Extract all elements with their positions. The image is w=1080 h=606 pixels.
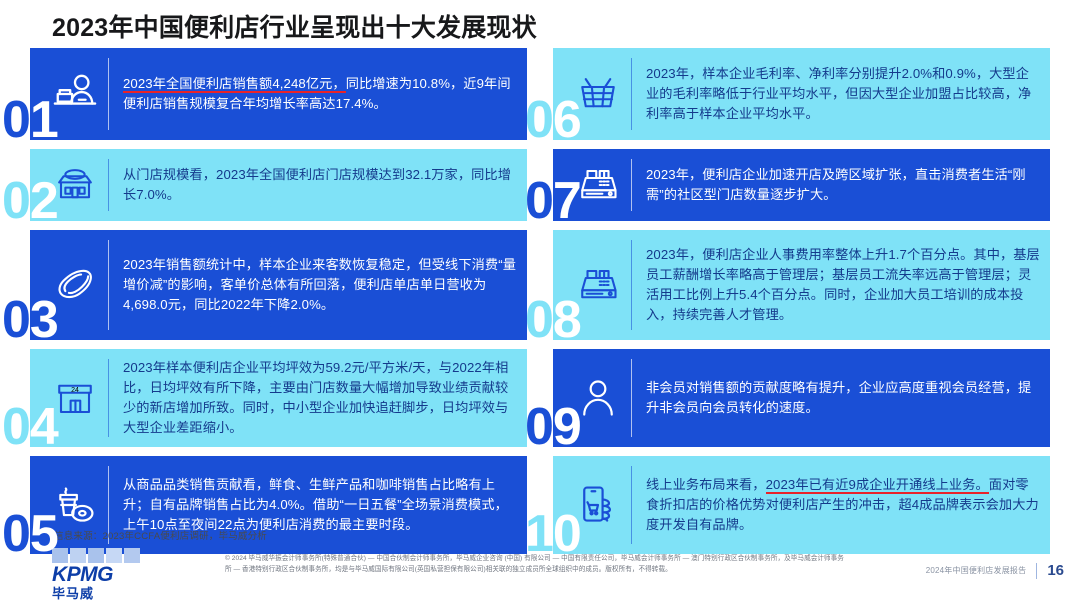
card-index-06: 06 bbox=[525, 94, 581, 146]
card-text-09: 非会员对销售额的贡献度略有提升，企业应高度重视会员经营，提升非会员向会员转化的速… bbox=[632, 366, 1050, 430]
stat-card-05: 05从商品品类销售贡献看，鲜食、生鲜产品和咖啡销售占比略有上升；自有品牌销售占比… bbox=[30, 456, 527, 554]
stat-card-10: 10线上业务布局来看，2023年已有近9成企业开通线上业务。面对零食折扣店的价格… bbox=[553, 456, 1050, 554]
stat-card-03: 032023年销售额统计中，样本企业来客数恢复稳定，但受线下消费“量增价减”的影… bbox=[30, 230, 527, 340]
cards-grid: 012023年全国便利店销售额4,248亿元，同比增速为10.8%，近9年间便利… bbox=[30, 48, 1050, 526]
card-index-02: 02 bbox=[2, 175, 58, 227]
page-title: 2023年中国便利店行业呈现出十大发展现状 bbox=[52, 8, 537, 44]
card-text-01: 2023年全国便利店销售额4,248亿元，同比增速为10.8%，近9年间便利店销… bbox=[109, 62, 527, 126]
card-index-07: 07 bbox=[525, 175, 581, 227]
card-text-03: 2023年销售额统计中，样本企业来客数恢复稳定，但受线下消费“量增价减”的影响，… bbox=[109, 243, 527, 327]
highlight-underline: 2023年全国便利店销售额4,248亿元， bbox=[123, 76, 346, 93]
stat-card-02: 02从门店规模看，2023年全国便利店门店规模达到32.1万家，同比增长7.0%… bbox=[30, 149, 527, 221]
kpmg-chinese-name: 毕马威 bbox=[52, 586, 142, 603]
card-index-01: 01 bbox=[2, 94, 58, 146]
report-name: 2024年中国便利店发展报告 bbox=[926, 565, 1027, 576]
highlight-underline: 2023年已有近9成企业开通线上业务。 bbox=[766, 477, 989, 494]
card-index-03: 03 bbox=[2, 294, 58, 346]
stat-card-06: 062023年，样本企业毛利率、净利率分别提升2.0%和0.9%，大型企业的毛利… bbox=[553, 48, 1050, 140]
page-number: 16 bbox=[1047, 562, 1064, 579]
footer-divider bbox=[1036, 563, 1037, 579]
cards-column-left: 012023年全国便利店销售额4,248亿元，同比增速为10.8%，近9年间便利… bbox=[30, 48, 527, 526]
infographic-page: 2023年中国便利店行业呈现出十大发展现状 012023年全国便利店销售额4,2… bbox=[0, 0, 1080, 606]
kpmg-logo: KPMG 毕马威 bbox=[52, 548, 142, 603]
card-text-06: 2023年，样本企业毛利率、净利率分别提升2.0%和0.9%，大型企业的毛利率略… bbox=[632, 52, 1050, 136]
footer-meta: 2024年中国便利店发展报告 16 bbox=[926, 562, 1064, 579]
card-index-05: 05 bbox=[2, 508, 58, 560]
card-index-09: 09 bbox=[525, 401, 581, 453]
card-text-08: 2023年，便利店企业人事费用率整体上升1.7个百分点。其中，基层员工薪酬增长率… bbox=[632, 233, 1050, 337]
card-text-02: 从门店规模看，2023年全国便利店门店规模达到32.1万家，同比增长7.0%。 bbox=[109, 153, 527, 217]
stat-card-08: 082023年，便利店企业人事费用率整体上升1.7个百分点。其中，基层员工薪酬增… bbox=[553, 230, 1050, 340]
card-index-10: 10 bbox=[525, 508, 581, 560]
stat-card-07: 072023年，便利店企业加速开店及跨区域扩张，直击消费者生活“刚需”的社区型门… bbox=[553, 149, 1050, 221]
kpmg-wordmark: KPMG bbox=[52, 564, 142, 586]
card-text-07: 2023年，便利店企业加速开店及跨区域扩张，直击消费者生活“刚需”的社区型门店数… bbox=[632, 153, 1050, 217]
card-index-08: 08 bbox=[525, 294, 581, 346]
stat-card-01: 012023年全国便利店销售额4,248亿元，同比增速为10.8%，近9年间便利… bbox=[30, 48, 527, 140]
card-text-04: 2023年样本便利店企业平均坪效为59.2元/平方米/天，与2022年相比，日均… bbox=[109, 346, 527, 450]
svg-text:24: 24 bbox=[71, 387, 79, 394]
stat-card-09: 09非会员对销售额的贡献度略有提升，企业应高度重视会员经营，提升非会员向会员转化… bbox=[553, 349, 1050, 447]
card-text-10: 线上业务布局来看，2023年已有近9成企业开通线上业务。面对零食折扣店的价格优势… bbox=[632, 463, 1050, 547]
stat-card-04: 04242023年样本便利店企业平均坪效为59.2元/平方米/天，与2022年相… bbox=[30, 349, 527, 447]
cards-column-right: 062023年，样本企业毛利率、净利率分别提升2.0%和0.9%，大型企业的毛利… bbox=[553, 48, 1050, 526]
card-index-04: 04 bbox=[2, 401, 58, 453]
